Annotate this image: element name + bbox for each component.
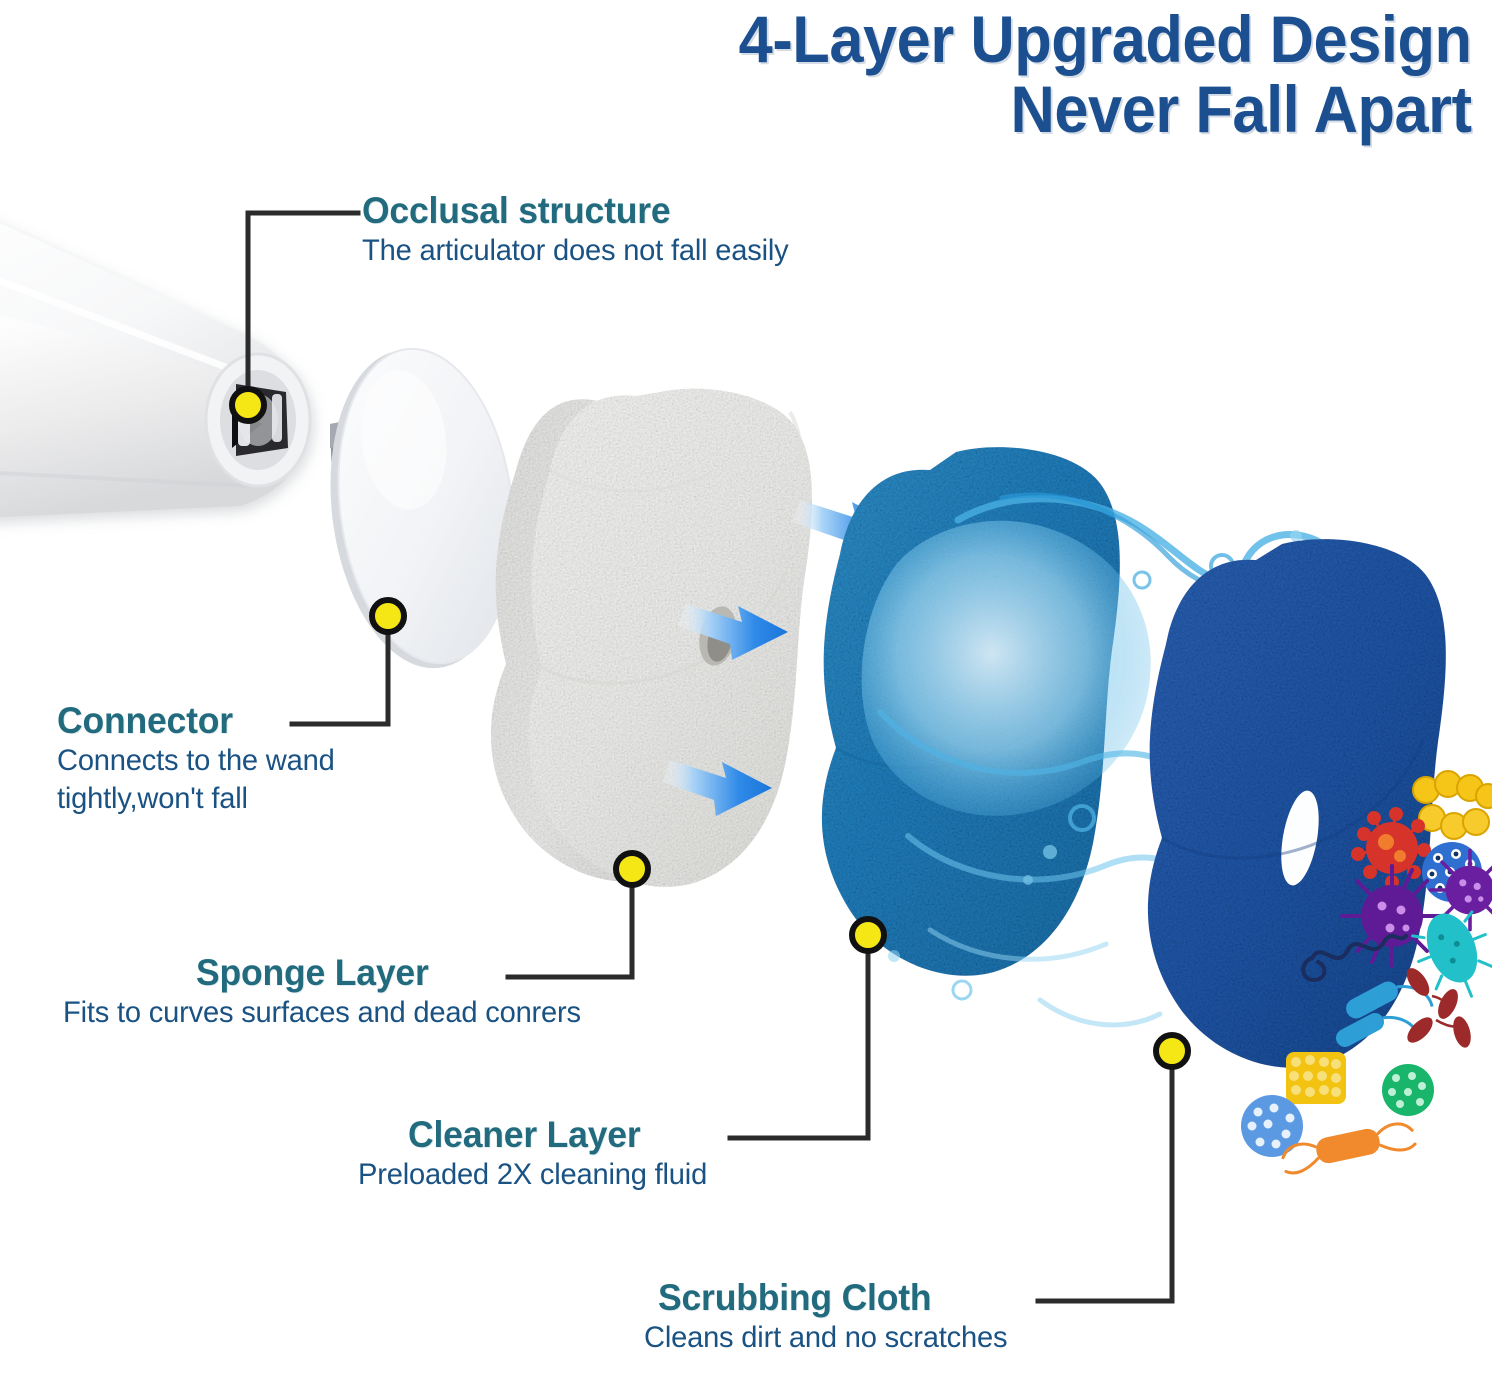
leader-line-cleaner-layer xyxy=(730,935,868,1138)
callout-description-cleaner-layer: Preloaded 2X cleaning fluid xyxy=(358,1156,707,1194)
callout-description-connector: Connects to the wand tightly,won't fall xyxy=(57,742,335,818)
marker-dot-scrubbing-cloth xyxy=(1156,1035,1188,1067)
callout-heading-scrubbing-cloth: Scrubbing Cloth xyxy=(658,1277,1004,1319)
callout-heading-connector: Connector xyxy=(57,700,332,742)
marker-dot-connector xyxy=(372,600,404,632)
callout-heading-occlusal-structure: Occlusal structure xyxy=(362,190,784,232)
marker-dot-cleaner-layer xyxy=(852,919,884,951)
leader-line-occlusal-structure xyxy=(248,213,358,405)
leader-line-scrubbing-cloth xyxy=(1038,1051,1172,1301)
callout-connector: Connector Connects to the wand tightly,w… xyxy=(57,700,343,818)
callout-heading-sponge-layer: Sponge Layer xyxy=(196,952,581,994)
callout-occlusal-structure: Occlusal structure The articulator does … xyxy=(362,190,802,270)
callout-description-occlusal-structure: The articulator does not fall easily xyxy=(362,232,789,270)
callout-cleaner-layer: Cleaner Layer Preloaded 2X cleaning flui… xyxy=(408,1114,718,1194)
callout-scrubbing-cloth: Scrubbing Cloth Cleans dirt and no scrat… xyxy=(658,1277,1019,1357)
marker-dot-occlusal-structure xyxy=(232,389,264,421)
infographic-canvas: 4-Layer Upgraded DesignNever Fall Apart xyxy=(0,0,1492,1376)
callout-heading-cleaner-layer: Cleaner Layer xyxy=(408,1114,705,1156)
callout-sponge-layer: Sponge Layer Fits to curves surfaces and… xyxy=(196,952,597,1032)
callout-description-sponge-layer: Fits to curves surfaces and dead conrers xyxy=(63,994,581,1032)
callout-description-scrubbing-cloth: Cleans dirt and no scratches xyxy=(644,1319,1007,1357)
marker-dot-sponge-layer xyxy=(616,853,648,885)
